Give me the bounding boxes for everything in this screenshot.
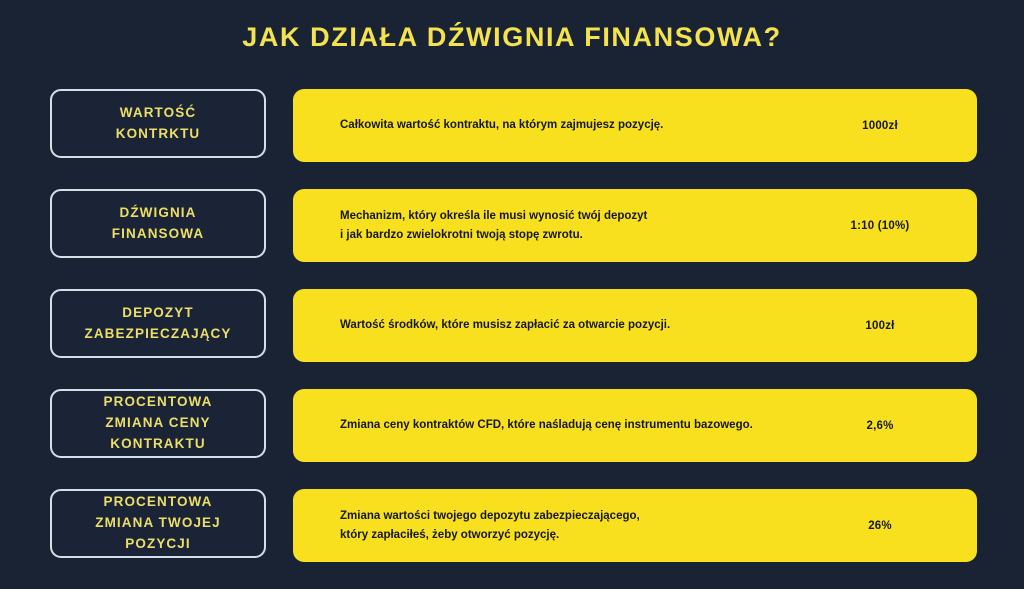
term-description-text: Zmiana ceny kontraktów CFD, które naślad… xyxy=(340,389,860,462)
term-description-text: Wartość środków, które musisz zapłacić z… xyxy=(340,289,860,362)
term-label-text: PROCENTOWA ZMIANA CENY KONTRAKTU xyxy=(103,392,212,455)
term-label-text: WARTOŚĆ KONTRKTU xyxy=(116,103,201,145)
term-description-box-2: Mechanizm, który określa ile musi wynosi… xyxy=(293,189,977,262)
glossary-row: DEPOZYT ZABEZPIECZAJĄCY Wartość środków,… xyxy=(0,289,1024,362)
term-label-text: DŹWIGNIA FINANSOWA xyxy=(112,203,204,245)
infographic-slide: JAK DZIAŁA DŹWIGNIA FINANSOWA? WARTOŚĆ K… xyxy=(0,0,1024,576)
term-value-text: 1000zł xyxy=(805,89,955,162)
term-description-text: Całkowita wartość kontraktu, na którym z… xyxy=(340,89,860,162)
term-value-text: 1:10 (10%) xyxy=(805,189,955,262)
term-label-box-1: WARTOŚĆ KONTRKTU xyxy=(50,89,266,158)
term-description-box-1: Całkowita wartość kontraktu, na którym z… xyxy=(293,89,977,162)
term-label-text: DEPOZYT ZABEZPIECZAJĄCY xyxy=(84,303,231,345)
term-value-text: 26% xyxy=(805,489,955,562)
glossary-row: WARTOŚĆ KONTRKTU Całkowita wartość kontr… xyxy=(0,89,1024,162)
term-description-box-3: Wartość środków, które musisz zapłacić z… xyxy=(293,289,977,362)
term-description-text: Mechanizm, który określa ile musi wynosi… xyxy=(340,189,860,262)
glossary-row-list: WARTOŚĆ KONTRKTU Całkowita wartość kontr… xyxy=(0,89,1024,589)
term-value-text: 100zł xyxy=(805,289,955,362)
glossary-row: PROCENTOWA ZMIANA CENY KONTRAKTU Zmiana … xyxy=(0,389,1024,462)
term-label-box-2: DŹWIGNIA FINANSOWA xyxy=(50,189,266,258)
glossary-row: DŹWIGNIA FINANSOWA Mechanizm, który okre… xyxy=(0,189,1024,262)
term-value-text: 2,6% xyxy=(805,389,955,462)
term-description-text: Zmiana wartości twojego depozytu zabezpi… xyxy=(340,489,860,562)
term-label-text: PROCENTOWA ZMIANA TWOJEJ POZYCJI xyxy=(95,492,221,555)
term-label-box-4: PROCENTOWA ZMIANA CENY KONTRAKTU xyxy=(50,389,266,458)
term-description-box-4: Zmiana ceny kontraktów CFD, które naślad… xyxy=(293,389,977,462)
term-description-box-5: Zmiana wartości twojego depozytu zabezpi… xyxy=(293,489,977,562)
term-label-box-3: DEPOZYT ZABEZPIECZAJĄCY xyxy=(50,289,266,358)
term-label-box-5: PROCENTOWA ZMIANA TWOJEJ POZYCJI xyxy=(50,489,266,558)
page-title: JAK DZIAŁA DŹWIGNIA FINANSOWA? xyxy=(0,22,1024,53)
glossary-row: PROCENTOWA ZMIANA TWOJEJ POZYCJI Zmiana … xyxy=(0,489,1024,562)
